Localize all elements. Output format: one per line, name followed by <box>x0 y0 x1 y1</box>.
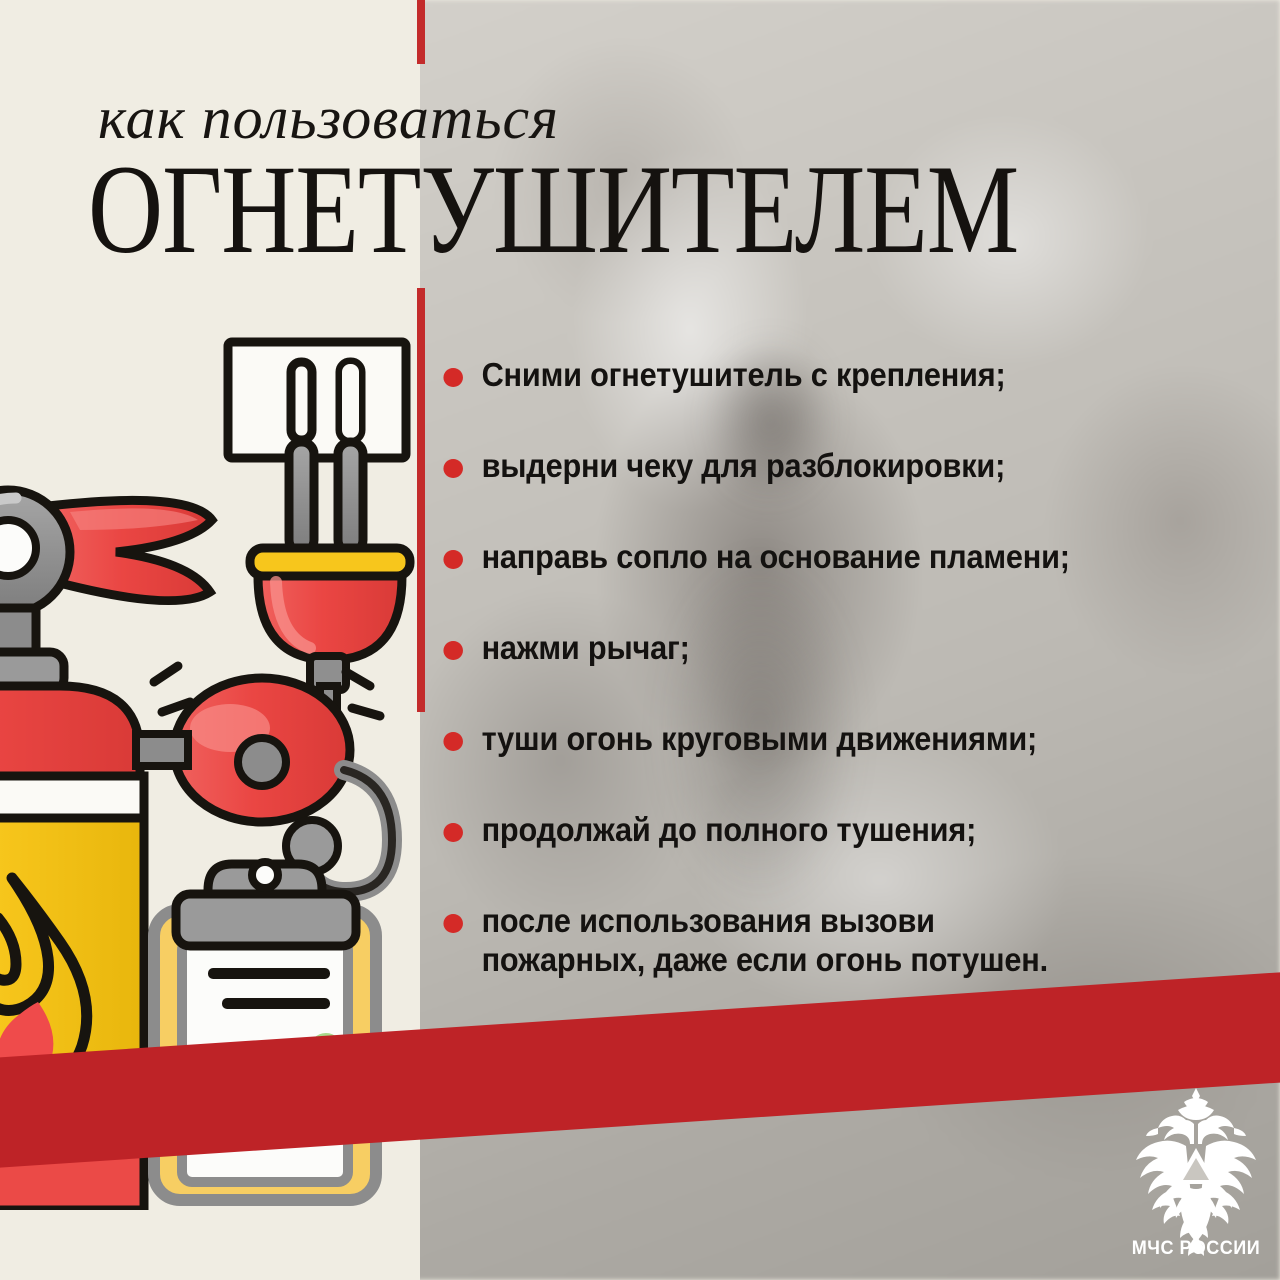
wall-socket-icon <box>228 342 406 458</box>
step-text: выдерни чеку для разблокировки; <box>482 447 1208 486</box>
bullet-dot-icon <box>443 550 463 569</box>
mchs-double-headed-eagle-emblem <box>1128 1086 1264 1262</box>
page-title: как пользоваться ОГНЕТУШИТЕЛЕМ <box>88 88 1218 252</box>
list-item: нажми рычаг; <box>436 629 1208 668</box>
accent-line-top <box>417 0 425 64</box>
step-text: направь сопло на основание пламени; <box>482 538 1208 577</box>
steps-list: Сними огнетушитель с крепления; выдерни … <box>436 356 1266 980</box>
step-text: Сними огнетушитель с крепления; <box>482 356 1208 395</box>
list-item: Сними огнетушитель с крепления; <box>436 356 1208 395</box>
bullet-dot-icon <box>443 459 463 478</box>
list-item: продолжай до полного тушения; <box>436 811 1208 850</box>
bullet-dot-icon <box>443 823 463 842</box>
list-item: туши огонь круговыми движениями; <box>436 720 1208 759</box>
title-main: ОГНЕТУШИТЕЛЕМ <box>88 146 1218 275</box>
bullet-dot-icon <box>443 732 463 751</box>
step-text: туши огонь круговыми движениями; <box>482 720 1208 759</box>
bullet-dot-icon <box>443 641 463 660</box>
step-text: продолжай до полного тушения; <box>482 811 1208 850</box>
bullet-dot-icon <box>443 368 463 387</box>
step-text: нажми рычаг; <box>482 629 1208 668</box>
emblem-label: МЧС РОССИИ <box>1120 1238 1272 1260</box>
bullet-dot-icon <box>443 914 463 933</box>
list-item: направь сопло на основание пламени; <box>436 538 1208 577</box>
list-item: выдерни чеку для разблокировки; <box>436 447 1208 486</box>
infographic-poster: как пользоваться ОГНЕТУШИТЕЛЕМ Сними огн… <box>0 0 1280 1280</box>
list-item: после использования вызови пожарных, даж… <box>436 902 1208 980</box>
step-text: после использования вызови пожарных, даж… <box>482 902 1208 980</box>
fire-extinguisher-nozzle <box>0 490 212 692</box>
